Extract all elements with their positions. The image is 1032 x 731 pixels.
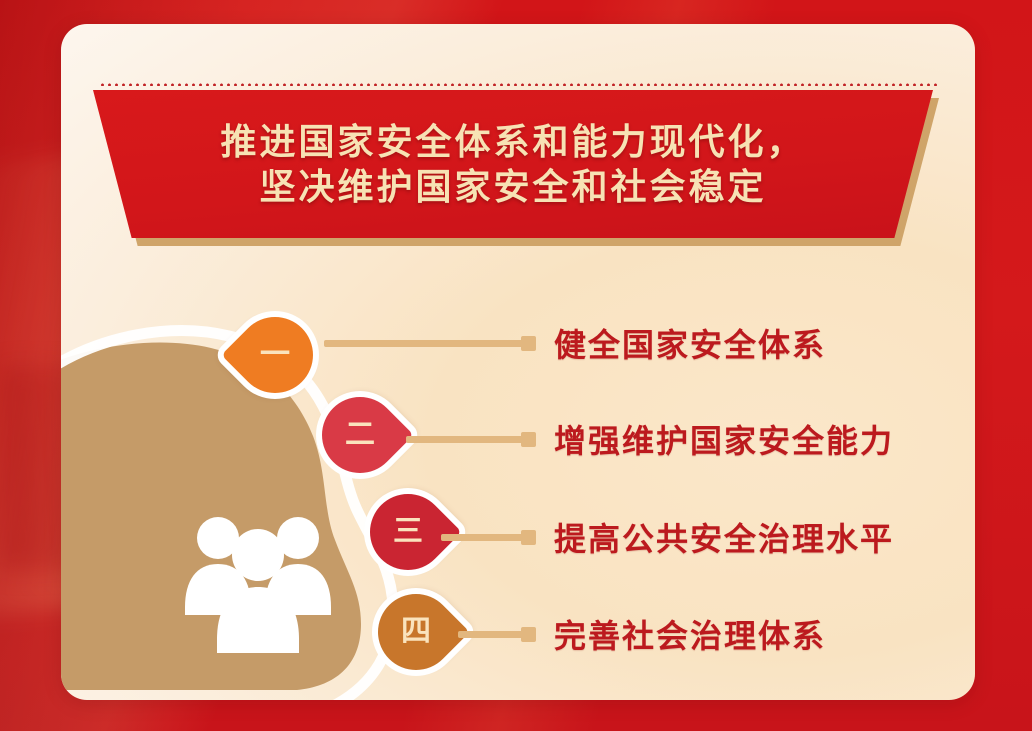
list-item-4[interactable]: 完善社会治理体系 bbox=[458, 611, 826, 657]
list-item-2-label: 增强维护国家安全能力 bbox=[554, 416, 894, 462]
list-item-1-label: 健全国家安全体系 bbox=[554, 320, 826, 366]
list-item-2[interactable]: 增强维护国家安全能力 bbox=[406, 416, 894, 462]
group-of-people-icon bbox=[173, 511, 343, 661]
list-item-3[interactable]: 提高公共安全治理水平 bbox=[441, 514, 894, 560]
dotted-divider bbox=[99, 82, 937, 86]
list-item-3-label: 提高公共安全治理水平 bbox=[554, 514, 894, 560]
connector-line-1 bbox=[324, 340, 528, 347]
poster-card: 推进国家安全体系和能力现代化， 坚决维护国家安全和社会稳定 bbox=[61, 24, 975, 700]
map-pin-2-numeral: 二 bbox=[345, 420, 375, 450]
connector-line-3 bbox=[441, 534, 528, 541]
banner-title-line-2: 坚决维护国家安全和社会稳定 bbox=[259, 164, 766, 209]
poster-stage: 推进国家安全体系和能力现代化， 坚决维护国家安全和社会稳定 bbox=[0, 0, 1032, 731]
list-item-4-label: 完善社会治理体系 bbox=[554, 611, 826, 657]
map-pin-1-numeral: 一 bbox=[260, 340, 290, 370]
banner-title-line-1: 推进国家安全体系和能力现代化， bbox=[220, 119, 805, 164]
connector-line-4 bbox=[458, 631, 528, 638]
banner-red-panel: 推进国家安全体系和能力现代化， 坚决维护国家安全和社会稳定 bbox=[93, 90, 933, 238]
list-item-1[interactable]: 健全国家安全体系 bbox=[324, 320, 826, 366]
title-banner: 推进国家安全体系和能力现代化， 坚决维护国家安全和社会稳定 bbox=[93, 90, 943, 248]
map-pin-3-numeral: 三 bbox=[393, 517, 423, 547]
map-pin-4-numeral: 四 bbox=[401, 617, 431, 647]
connector-line-2 bbox=[406, 436, 528, 443]
